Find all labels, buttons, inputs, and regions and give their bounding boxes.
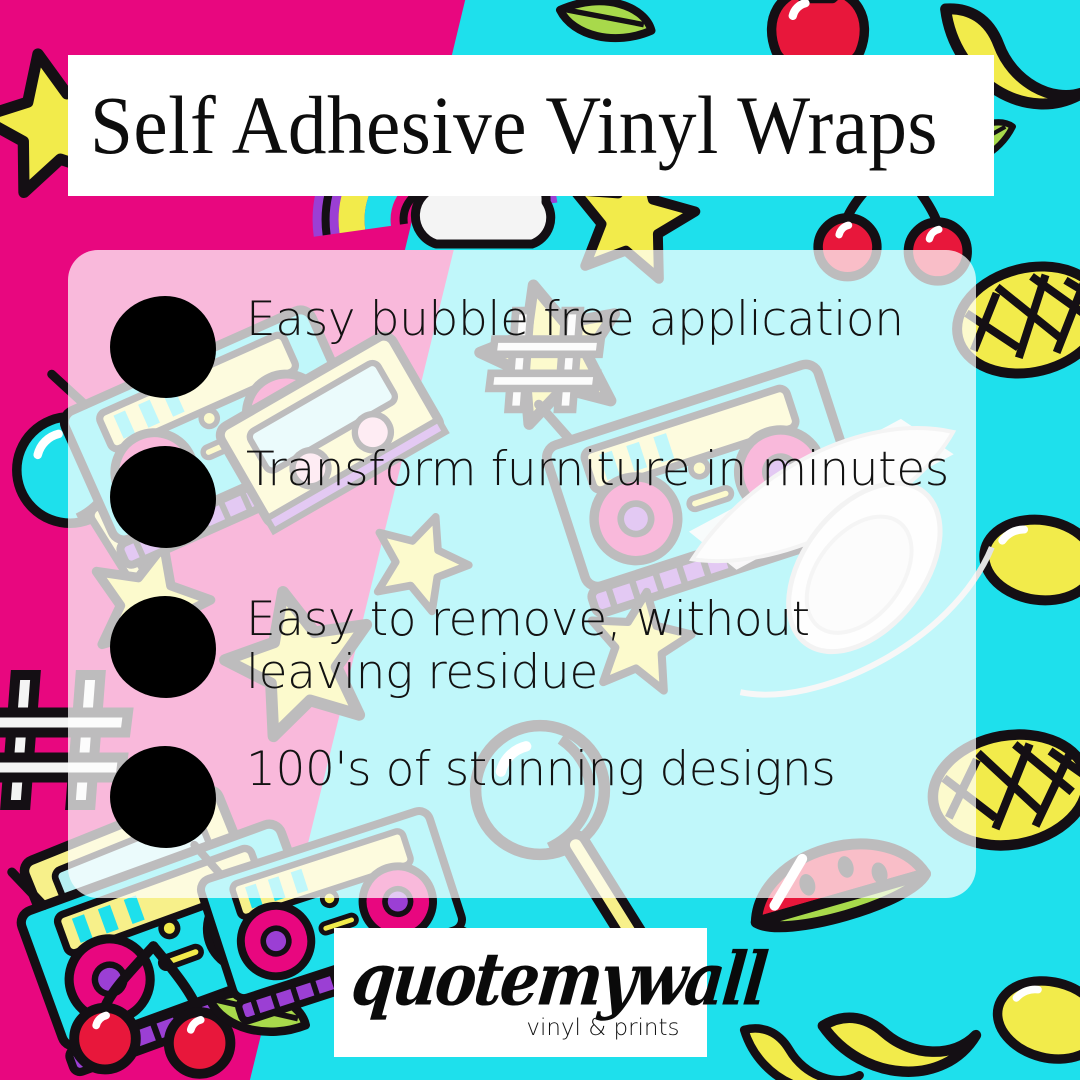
bullet-blob-icon xyxy=(110,746,216,848)
brand-tagline: vinyl & prints xyxy=(526,1015,679,1041)
list-item: 100's of stunning designs xyxy=(68,740,976,868)
brand-logo-card: quotemywall vinyl & prints xyxy=(334,928,707,1057)
poster-canvas: Self Adhesive Vinyl Wraps Easy bubble fr… xyxy=(0,0,1080,1080)
list-item: Transform furniture in minutes xyxy=(68,440,976,568)
list-item-label: Transform furniture in minutes xyxy=(246,440,949,497)
page-title: Self Adhesive Vinyl Wraps xyxy=(90,84,938,167)
list-item: Easy bubble free application xyxy=(68,290,976,418)
list-item: Easy to remove, without leaving residue xyxy=(68,590,976,718)
title-card: Self Adhesive Vinyl Wraps xyxy=(68,55,994,196)
bullet-blob-icon xyxy=(110,296,216,398)
brand-logo: quotemywall vinyl & prints xyxy=(356,941,686,1045)
bullet-blob-icon xyxy=(110,596,216,698)
list-item-label: Easy to remove, without leaving residue xyxy=(246,590,966,699)
feature-list: Easy bubble free application Transform f… xyxy=(68,252,976,898)
bullet-blob-icon xyxy=(110,446,216,548)
brand-wordmark: quotemywall xyxy=(348,943,768,1016)
list-item-label: 100's of stunning designs xyxy=(246,740,835,797)
list-item-label: Easy bubble free application xyxy=(246,290,904,347)
